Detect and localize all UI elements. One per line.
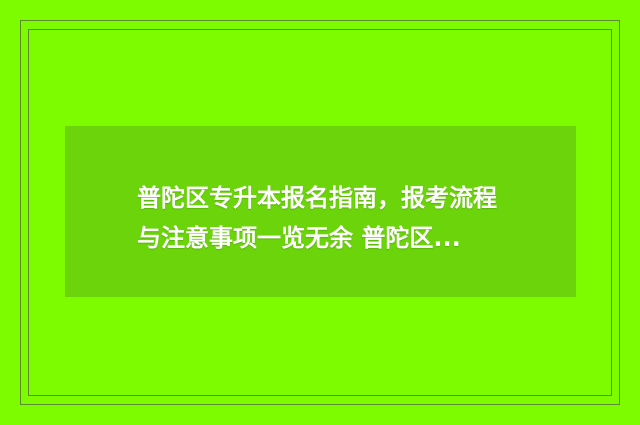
headline-line-2: 与注意事项一览无余 普陀区... — [137, 218, 557, 258]
poster-canvas: 普陀区专升本报名指南，报考流程 与注意事项一览无余 普陀区... — [0, 0, 640, 425]
content-panel: 普陀区专升本报名指南，报考流程 与注意事项一览无余 普陀区... — [65, 126, 576, 297]
headline-line-1: 普陀区专升本报名指南，报考流程 — [137, 178, 557, 218]
headline-text: 普陀区专升本报名指南，报考流程 与注意事项一览无余 普陀区... — [137, 178, 557, 258]
